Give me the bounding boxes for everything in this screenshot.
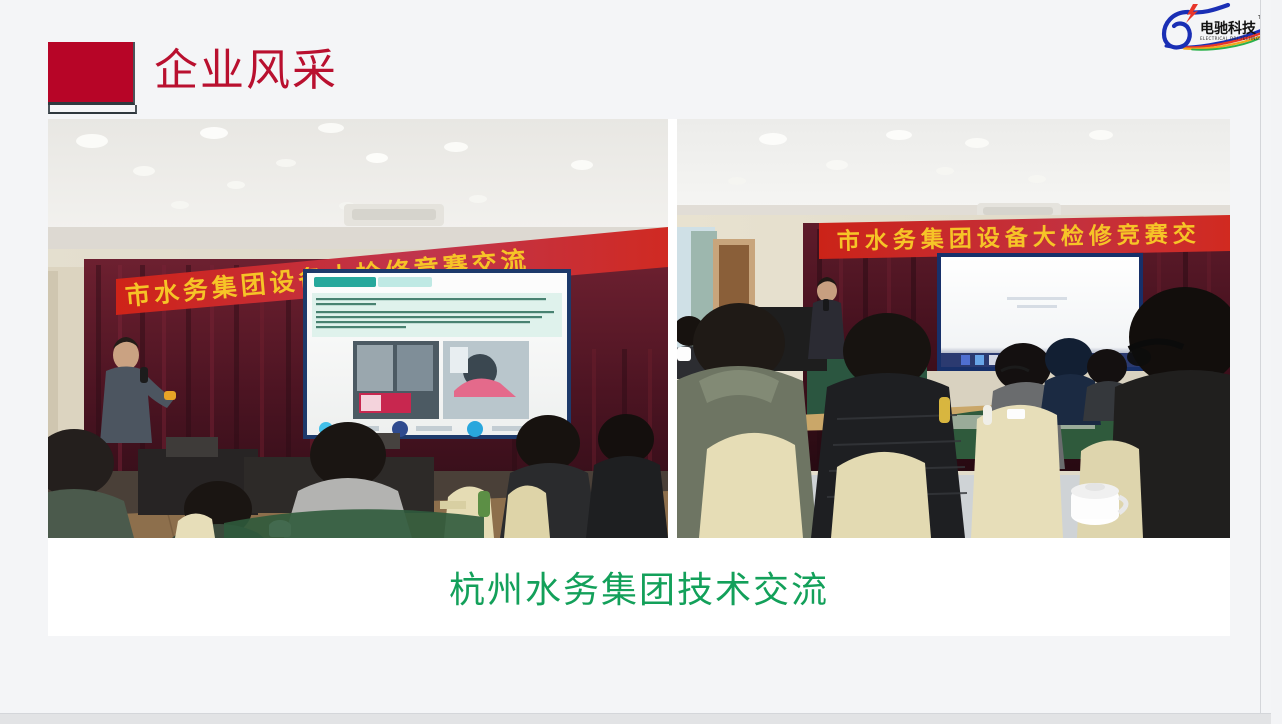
gallery-photo-right[interactable]: 市水务集团设备大检修竞赛交 [677,119,1230,538]
vertical-scrollbar[interactable] [1260,0,1271,724]
page-header: 企业风采 [48,42,1230,106]
logo-chinese-text: 电驰科技 [1200,20,1257,37]
gallery-photo-left[interactable]: 市水务集团设备大检修竞赛交流 [48,119,668,538]
header-badge-underline [48,105,137,114]
photo-gallery: 市水务集团设备大检修竞赛交流 [48,119,1230,538]
horizontal-scrollbar[interactable] [0,713,1271,724]
page-title: 企业风采 [154,39,338,103]
gallery-caption-text: 杭州水务集团技术交流 [449,561,829,613]
content-card: 市水务集团设备大检修竞赛交流 [48,119,1230,636]
page-canvas: 电驰科技 TM ELECTRICAL DRI TECHNOLOGY 企业风采 [0,0,1271,724]
header-red-badge [48,42,135,105]
gallery-caption: 杭州水务集团技术交流 [48,538,1230,636]
